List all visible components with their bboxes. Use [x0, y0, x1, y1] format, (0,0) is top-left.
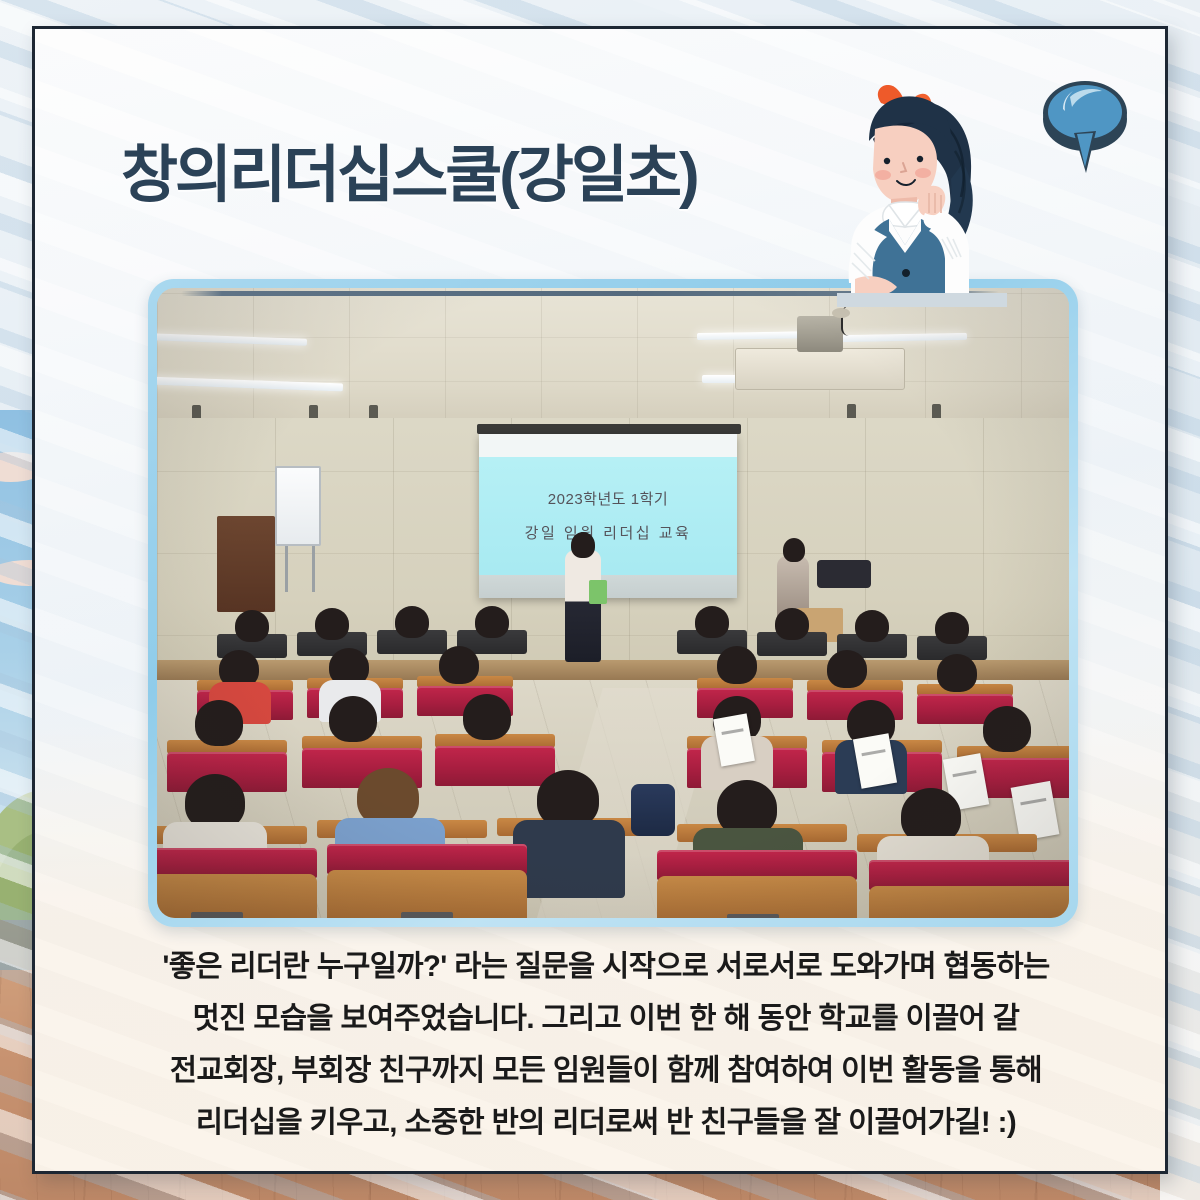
caption-line-3: 전교회장, 부회장 친구까지 모든 임원들이 함께 참여하여 이번 활동을 통해	[131, 1045, 1081, 1097]
pushpin-icon	[1030, 71, 1140, 186]
caption-block: '좋은 리더란 누구일까?' 라는 질문을 시작으로 서로서로 도와가며 협동하…	[131, 941, 1081, 1149]
caption-line-2: 멋진 모습을 보여주었습니다. 그리고 이번 한 해 동안 학교를 이끌어 갈	[131, 993, 1081, 1045]
caption-line-4: 리더십을 키우고, 소중한 반의 리더로써 반 친구들을 잘 이끌어가길! :)	[131, 1097, 1081, 1149]
photo-frame: 2023학년도 1학기 강일 임원 리더십 교육	[148, 279, 1078, 927]
page-title: 창의리더십스쿨(강일초)	[121, 124, 697, 214]
photo-vignette	[157, 288, 1069, 918]
poster-card: 창의리더십스쿨(강일초)	[32, 26, 1168, 1174]
caption-line-1: '좋은 리더란 누구일까?' 라는 질문을 시작으로 서로서로 도와가며 협동하…	[131, 941, 1081, 993]
leadership-training-auditorium-photo: 2023학년도 1학기 강일 임원 리더십 교육	[157, 288, 1069, 918]
thinking-girl-illustration	[777, 67, 1007, 307]
